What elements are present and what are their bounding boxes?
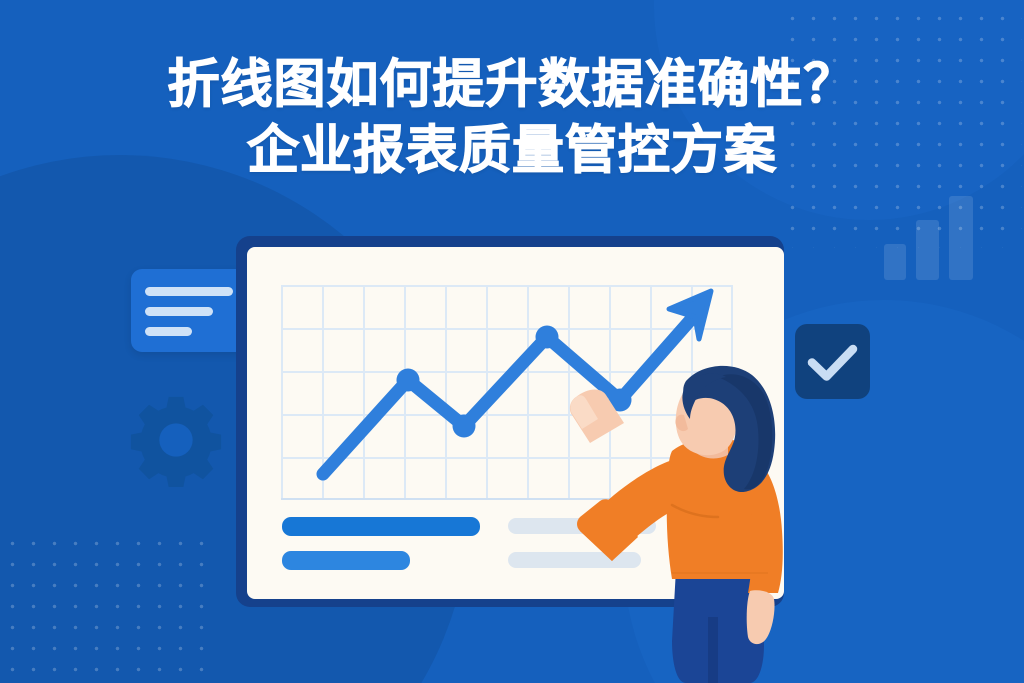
bar-chart-bar-3 (949, 196, 973, 280)
document-line-3 (145, 327, 192, 336)
presenter-illustration (568, 355, 818, 683)
gear-icon (127, 391, 225, 489)
document-lines-icon (131, 269, 249, 352)
document-line-1 (145, 287, 233, 296)
right-hand (747, 590, 775, 644)
page-title: 折线图如何提升数据准确性？ 企业报表质量管控方案 (0, 52, 1024, 184)
chart-point (536, 326, 559, 349)
pointing-hand (570, 389, 624, 443)
chart-point (453, 415, 476, 438)
bar-chart-bar-2 (916, 220, 939, 280)
bar-chart-icon (884, 196, 976, 280)
page-title-line-1: 折线图如何提升数据准确性？ (167, 56, 856, 114)
placeholder-bar-secondary (282, 551, 410, 570)
chart-point (397, 369, 420, 392)
dot-grid-pattern-bottom-left (2, 533, 207, 683)
page-title-line-2: 企业报表质量管控方案 (0, 118, 1024, 184)
placeholder-bar-primary (282, 517, 480, 536)
bar-chart-bar-1 (884, 244, 906, 280)
poster-canvas: 折线图如何提升数据准确性？ 企业报表质量管控方案 (0, 0, 1024, 683)
document-line-2 (145, 307, 213, 316)
